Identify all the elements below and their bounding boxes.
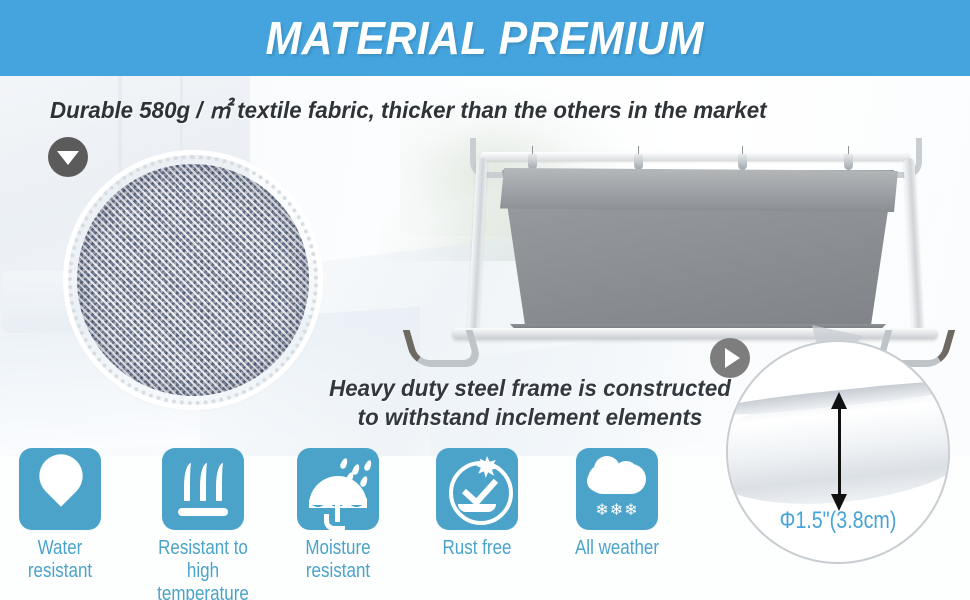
heat-waves-icon	[162, 448, 244, 530]
steel-tube-callout: Φ1.5"(3.8cm)	[726, 340, 950, 564]
feature-label-line-1: Water	[9, 537, 111, 560]
infographic-page: MATERIAL PREMIUM Durable 580g / ㎡ textil…	[0, 0, 970, 600]
product-image	[380, 140, 970, 370]
umbrella-rain-icon	[297, 448, 379, 530]
feature-label-line-2: resistant	[287, 560, 389, 583]
feature-label: All weather	[566, 537, 668, 560]
raindrop-glyph	[339, 457, 349, 469]
fabric-callout-ring	[68, 155, 318, 405]
feature-moisture-resistant[interactable]: Moisture resistant	[278, 448, 398, 583]
arrow-shaft	[838, 406, 841, 500]
frame-caption-line-1: Heavy duty steel frame is constructed	[307, 374, 753, 403]
fabric-clip	[738, 154, 747, 170]
feature-water-resistant[interactable]: Water resistant	[0, 448, 120, 583]
frame-bottom-bar	[452, 328, 938, 339]
feature-rust-free[interactable]: Rust free	[417, 448, 537, 560]
feature-label-line-2: temperature	[141, 583, 265, 600]
page-title: MATERIAL PREMIUM	[266, 15, 704, 61]
frame-foot-left	[403, 330, 484, 367]
frame-caption: Heavy duty steel frame is constructed to…	[307, 374, 753, 432]
feature-high-temperature[interactable]: Resistant to high temperature	[130, 448, 276, 600]
hammock-headrest-bolster	[500, 168, 898, 212]
feature-label-line-1: All weather	[566, 537, 668, 560]
snowflakes-glyph: ❄❄❄	[576, 503, 658, 519]
heat-wave-glyph	[200, 463, 212, 501]
heat-plate-glyph	[178, 508, 228, 516]
cloud-puff-glyph	[587, 470, 609, 492]
rust-free-check-icon	[436, 448, 518, 530]
feature-label-line-1: Resistant to high	[141, 537, 265, 583]
water-drop-icon	[19, 448, 101, 530]
frame-leg-left	[467, 158, 487, 333]
fabric-clip	[844, 154, 853, 170]
subtitle-text: Durable 580g / ㎡ textile fabric, thicker…	[50, 96, 767, 124]
triangle-down-glyph	[57, 151, 79, 165]
cloud-puff-glyph	[622, 472, 644, 492]
feature-list: Water resistant Resistant to high temper…	[0, 448, 700, 600]
fabric-clip	[528, 154, 537, 170]
raindrop-glyph	[363, 459, 373, 471]
feature-label: Moisture resistant	[287, 537, 389, 583]
water-drop-glyph	[30, 448, 91, 507]
feature-all-weather[interactable]: ❄❄❄ All weather	[557, 448, 677, 560]
feature-label-line-1: Rust free	[426, 537, 528, 560]
cloud-snow-icon: ❄❄❄	[576, 448, 658, 530]
diameter-label: Φ1.5"(3.8cm)	[746, 508, 930, 534]
fabric-clip	[634, 154, 643, 170]
feature-label-line-2: resistant	[9, 560, 111, 583]
feature-label-line-1: Moisture	[287, 537, 389, 560]
feature-label: Rust free	[426, 537, 528, 560]
heat-wave-glyph	[216, 463, 228, 501]
header-banner: MATERIAL PREMIUM	[0, 0, 970, 76]
triangle-down-icon	[48, 137, 88, 177]
fabric-closeup-callout	[68, 155, 318, 405]
umbrella-handle-glyph	[324, 514, 345, 530]
feature-label: Resistant to high temperature	[141, 537, 265, 600]
frame-leg-right	[903, 158, 923, 333]
heat-wave-glyph	[184, 463, 196, 501]
frame-caption-line-2: to withstand inclement elements	[307, 403, 753, 432]
feature-label: Water resistant	[9, 537, 111, 583]
rust-free-base-glyph	[458, 504, 496, 512]
